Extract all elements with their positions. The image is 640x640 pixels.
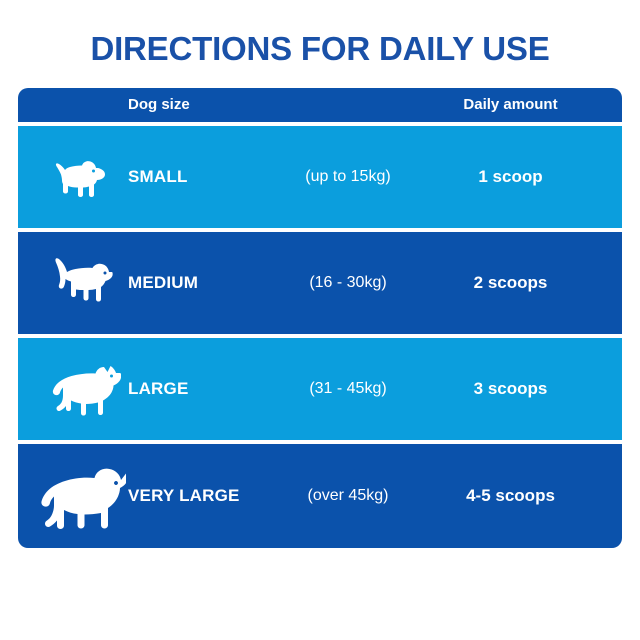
daily-amount-value: 3 scoops <box>418 338 603 440</box>
daily-amount-value: 2 scoops <box>418 232 603 334</box>
table-row: SMALL (up to 15kg) 1 scoop <box>18 126 622 228</box>
dog-size-label: LARGE <box>128 338 189 440</box>
very-large-dog-icon <box>36 444 128 548</box>
weight-range-label: (31 - 45kg) <box>273 338 423 440</box>
table-row: MEDIUM (16 - 30kg) 2 scoops <box>18 232 622 334</box>
column-header-daily-amount: Daily amount <box>418 88 603 122</box>
daily-amount-value: 1 scoop <box>418 126 603 228</box>
column-header-dog-size: Dog size <box>128 88 190 122</box>
daily-amount-value: 4-5 scoops <box>418 444 603 548</box>
large-dog-icon <box>36 338 128 440</box>
medium-dog-icon <box>36 232 128 334</box>
dog-size-label: SMALL <box>128 126 188 228</box>
weight-range-label: (over 45kg) <box>273 444 423 548</box>
dog-size-label: VERY LARGE <box>128 444 240 548</box>
weight-range-label: (16 - 30kg) <box>273 232 423 334</box>
page-title: DIRECTIONS FOR DAILY USE <box>0 30 640 68</box>
dosage-table: Dog size Daily amount SMALL (up to 15kg)… <box>18 88 622 548</box>
table-row: VERY LARGE (over 45kg) 4-5 scoops <box>18 444 622 548</box>
weight-range-label: (up to 15kg) <box>273 126 423 228</box>
table-header-row: Dog size Daily amount <box>18 88 622 122</box>
table-row: LARGE (31 - 45kg) 3 scoops <box>18 338 622 440</box>
directions-for-daily-use-panel: DIRECTIONS FOR DAILY USE Dog size Daily … <box>0 0 640 640</box>
small-dog-icon <box>36 126 128 228</box>
dog-size-label: MEDIUM <box>128 232 198 334</box>
